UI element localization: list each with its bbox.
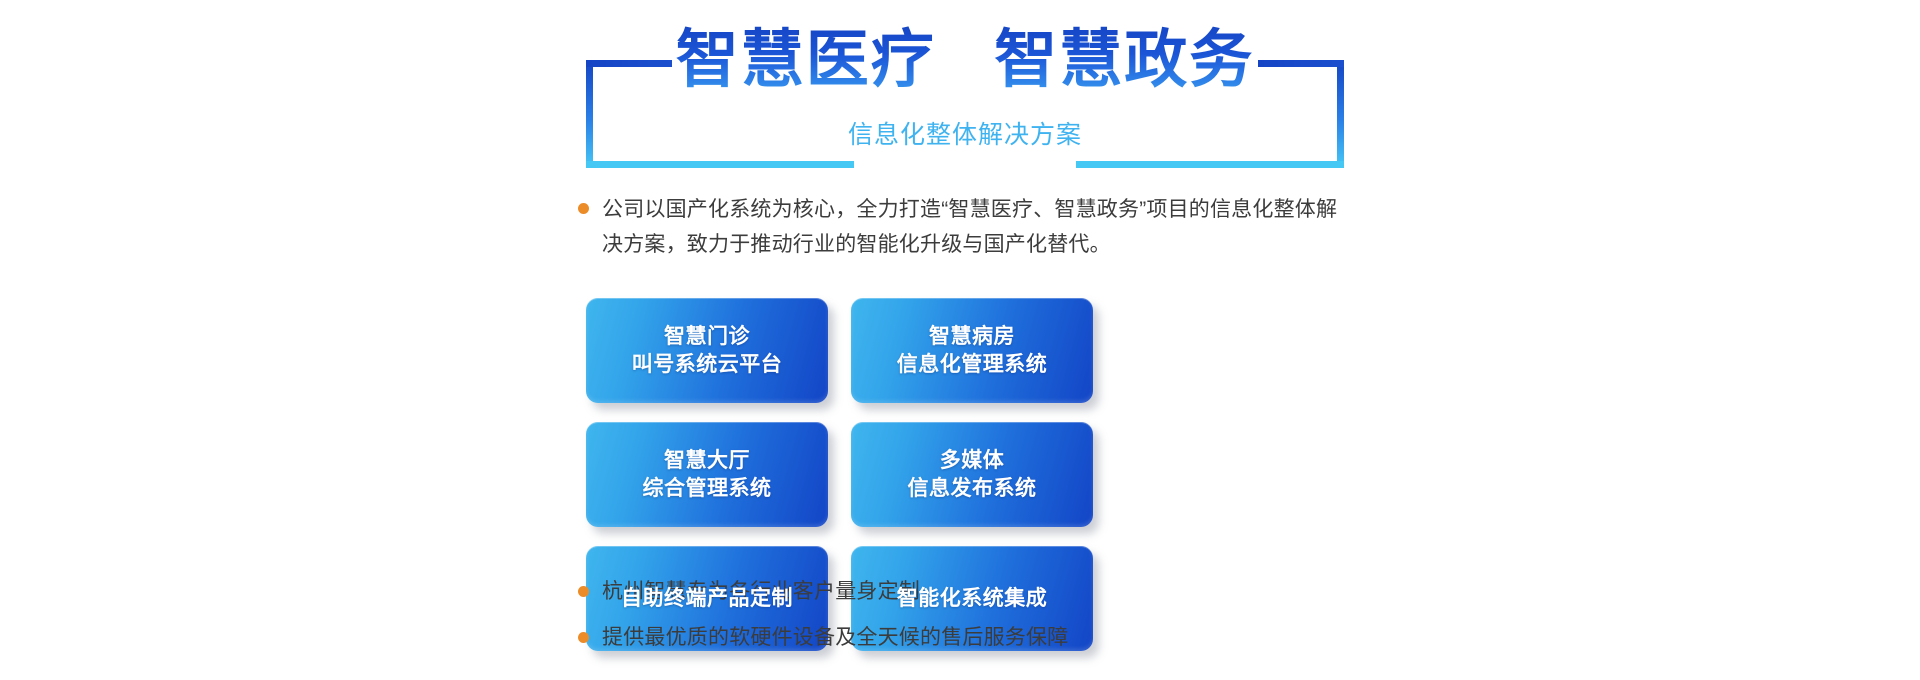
solution-card-label: 智慧病房 信息化管理系统 — [897, 323, 1048, 379]
header-block: 智慧医疗 智慧政务 信息化整体解决方案 — [570, 22, 1360, 162]
solution-card-label: 智慧大厅 综合管理系统 — [643, 447, 772, 503]
promo-banner-page: 智慧医疗 智慧政务 信息化整体解决方案 公司以国产化系统为核心，全力打造“智慧医… — [0, 0, 1920, 680]
footer-item-text: 提供最优质的软硬件设备及全天候的售后服务保障 — [602, 624, 1068, 652]
subtitle-text: 信息化整体解决方案 — [832, 118, 1098, 152]
solution-card-label: 自助终端产品定制 — [621, 585, 793, 613]
list-item: 提供最优质的软硬件设备及全天候的售后服务保障 — [578, 624, 1368, 652]
orange-dot-bullet-icon — [578, 586, 589, 597]
solution-card[interactable]: 智慧大厅 综合管理系统 — [586, 422, 828, 527]
main-title-text: 智慧医疗 智慧政务 — [676, 22, 1255, 98]
solution-card-label: 智能化系统集成 — [897, 585, 1048, 613]
orange-dot-bullet-icon — [578, 203, 589, 214]
intro-paragraph: 公司以国产化系统为核心，全力打造“智慧医疗、智慧政务”项目的信息化整体解决方案，… — [578, 192, 1368, 262]
solution-card[interactable]: 多媒体 信息发布系统 — [851, 422, 1093, 527]
subtitle-row: 信息化整体解决方案 — [570, 118, 1360, 152]
solution-card-label: 多媒体 信息发布系统 — [908, 447, 1037, 503]
solution-card[interactable]: 智慧病房 信息化管理系统 — [851, 298, 1093, 403]
solution-card[interactable]: 智慧门诊 叫号系统云平台 — [586, 298, 828, 403]
intro-paragraph-text: 公司以国产化系统为核心，全力打造“智慧医疗、智慧政务”项目的信息化整体解决方案，… — [602, 192, 1352, 262]
solution-card-label: 智慧门诊 叫号系统云平台 — [632, 323, 783, 379]
orange-dot-bullet-icon — [578, 632, 589, 643]
main-title: 智慧医疗 智慧政务 — [570, 22, 1360, 98]
